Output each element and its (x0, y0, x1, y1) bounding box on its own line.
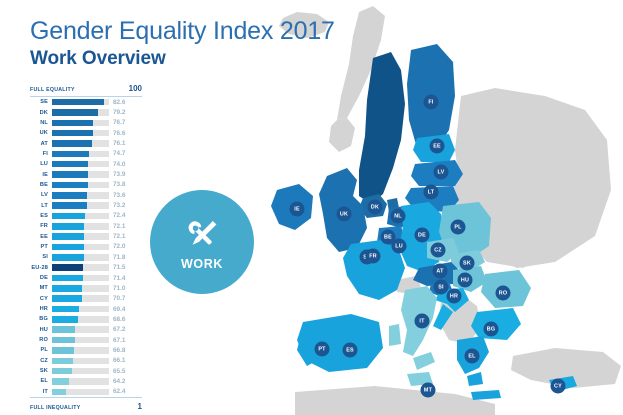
bar-value: 64.2 (109, 378, 136, 385)
bar-country-code: FI (30, 151, 52, 157)
bar-country-code: MT (30, 285, 52, 291)
bar-fill (52, 223, 84, 230)
bar-row: HU67.2 (30, 325, 142, 335)
bar-track (52, 130, 109, 137)
bar-fill (52, 171, 88, 178)
wrench-pencil-icon (181, 214, 223, 256)
bar-country-code: IE (30, 172, 52, 178)
bar-fill (52, 244, 84, 251)
bar-value: 71.5 (109, 264, 136, 271)
bar-country-code: DE (30, 275, 52, 281)
bar-row: PT72.0 (30, 242, 142, 252)
bar-fill (52, 202, 87, 209)
map-country-code-el: EL (465, 349, 480, 364)
bar-value: 71.8 (109, 254, 136, 261)
bar-row: DK79.2 (30, 107, 142, 117)
bar-fill (52, 306, 79, 313)
bar-row: LV73.6 (30, 190, 142, 200)
map-country-code-lv: LV (434, 165, 449, 180)
map-country-code-sk: SK (460, 256, 475, 271)
bar-value: 68.6 (109, 316, 136, 323)
bar-country-code: AT (30, 141, 52, 147)
bar-fill (52, 99, 104, 106)
map-country-code-pl: PL (451, 220, 466, 235)
bar-row: ES72.4 (30, 211, 142, 221)
bar-country-code: BG (30, 316, 52, 322)
map-country-code-nl: NL (391, 209, 406, 224)
page-title: Gender Equality Index 2017 (30, 18, 335, 45)
bar-country-code: FR (30, 223, 52, 229)
bar-country-code: LV (30, 192, 52, 198)
bar-track (52, 213, 109, 220)
bar-fill (52, 347, 74, 354)
map-country-code-ee: EE (430, 139, 445, 154)
bar-fill (52, 389, 66, 396)
bar-value: 67.1 (109, 337, 136, 344)
map-country-code-lu: LU (392, 239, 407, 254)
bar-track (52, 109, 109, 116)
bar-value: 73.6 (109, 192, 136, 199)
bar-fill (52, 182, 88, 189)
bar-value: 66.8 (109, 347, 136, 354)
bar-country-code: SE (30, 99, 52, 105)
bar-fill (52, 161, 88, 168)
bar-row: FR72.1 (30, 221, 142, 231)
map-country-code-hr: HR (447, 289, 462, 304)
bar-fill (52, 316, 78, 323)
bar-row: NL76.7 (30, 118, 142, 128)
bar-value: 73.2 (109, 202, 136, 209)
bar-row: CZ66.1 (30, 356, 142, 366)
bar-row: PL66.8 (30, 345, 142, 355)
bar-track (52, 295, 109, 302)
map-country-code-ie: IE (290, 202, 305, 217)
map-country-code-cy: CY (551, 379, 566, 394)
bar-row: AT76.1 (30, 138, 142, 148)
bar-track (52, 254, 109, 261)
bar-country-code: HR (30, 306, 52, 312)
map-country-code-uk: UK (337, 207, 352, 222)
bar-row: SK65.5 (30, 366, 142, 376)
full-equality-caption: FULL EQUALITY (30, 87, 129, 93)
bar-fill (52, 275, 83, 282)
bar-country-code: SK (30, 368, 52, 374)
bar-track (52, 99, 109, 106)
bar-fill (52, 233, 84, 240)
bar-track (52, 306, 109, 313)
bar-track (52, 140, 109, 147)
bar-fill (52, 192, 87, 199)
bar-track (52, 192, 109, 199)
bar-value: 66.1 (109, 357, 136, 364)
bar-row: IE73.9 (30, 169, 142, 179)
bar-country-code: SI (30, 254, 52, 260)
bar-rows-container: SE82.6DK79.2NL76.7UK76.6AT76.1FI74.7LU74… (30, 97, 142, 397)
infographic-canvas: SEFIEELVLTDKIEUKNLBELUDEPLCZSKATHUROSIHR… (0, 0, 623, 415)
bar-track (52, 233, 109, 240)
bar-row: BE73.8 (30, 180, 142, 190)
scale-bottom: FULL INEQUALITY 1 (30, 398, 142, 411)
bar-row: HR69.4 (30, 304, 142, 314)
bar-row: IT62.4 (30, 387, 142, 397)
bar-country-code: UK (30, 130, 52, 136)
bar-track (52, 347, 109, 354)
bar-fill (52, 140, 92, 147)
bar-country-code: ES (30, 213, 52, 219)
bar-value: 72.4 (109, 212, 136, 219)
bar-country-code: IT (30, 389, 52, 395)
bar-fill (52, 264, 83, 271)
map-country-code-at: AT (433, 264, 448, 279)
bar-value: 71.0 (109, 285, 136, 292)
bar-country-code: LU (30, 161, 52, 167)
bar-value: 72.1 (109, 233, 136, 240)
bar-track (52, 337, 109, 344)
bar-row: LU74.0 (30, 159, 142, 169)
bar-row: CY70.7 (30, 294, 142, 304)
bar-value: 82.6 (109, 99, 136, 106)
bar-country-code: BE (30, 182, 52, 188)
bar-value: 76.6 (109, 130, 136, 137)
bar-fill (52, 337, 75, 344)
bar-country-code: CY (30, 296, 52, 302)
bar-row: BG68.6 (30, 314, 142, 324)
bar-row: EU-2871.5 (30, 263, 142, 273)
bar-fill (52, 326, 75, 333)
map-country-code-bg: BG (484, 322, 499, 337)
bar-value: 65.5 (109, 368, 136, 375)
map-country-code-mt: MT (421, 383, 436, 398)
map-country-code-dk: DK (368, 200, 383, 215)
bar-track (52, 358, 109, 365)
map-country-code-it: IT (415, 314, 430, 329)
bar-row: UK76.6 (30, 128, 142, 138)
scale-top: FULL EQUALITY 100 (30, 84, 142, 96)
map-country-code-ro: RO (496, 286, 511, 301)
title-block: Gender Equality Index 2017 Work Overview (30, 18, 335, 70)
bar-value: 72.1 (109, 223, 136, 230)
map-country-code-pt: PT (315, 342, 330, 357)
bar-fill (52, 109, 98, 116)
bar-value: 74.0 (109, 161, 136, 168)
bar-track (52, 161, 109, 168)
bar-fill (52, 368, 72, 375)
full-inequality-caption: FULL INEQUALITY (30, 405, 138, 411)
bar-row: EE72.1 (30, 231, 142, 241)
map-country-code-hu: HU (458, 273, 473, 288)
bar-fill (52, 130, 93, 137)
bar-row: FI74.7 (30, 149, 142, 159)
bar-track (52, 389, 109, 396)
bar-fill (52, 285, 82, 292)
bar-fill (52, 151, 89, 158)
bar-value: 79.2 (109, 109, 136, 116)
bar-country-code: EE (30, 234, 52, 240)
bar-fill (52, 295, 82, 302)
bar-track (52, 368, 109, 375)
bar-country-code: LT (30, 203, 52, 209)
bar-value: 76.1 (109, 140, 136, 147)
bar-value: 62.4 (109, 388, 136, 395)
work-domain-badge: WORK (150, 190, 254, 294)
bar-country-code: PT (30, 244, 52, 250)
bar-value: 76.7 (109, 119, 136, 126)
bar-fill (52, 358, 73, 365)
full-equality-value: 100 (129, 84, 142, 93)
bar-country-code: HU (30, 327, 52, 333)
bar-country-code: EL (30, 378, 52, 384)
bar-value: 73.9 (109, 171, 136, 178)
bar-fill (52, 213, 85, 220)
bar-value: 69.4 (109, 306, 136, 313)
bar-row: RO67.1 (30, 335, 142, 345)
bar-track (52, 285, 109, 292)
bar-track (52, 244, 109, 251)
bar-country-code: RO (30, 337, 52, 343)
bar-track (52, 378, 109, 385)
bar-value: 74.7 (109, 150, 136, 157)
bar-row: SE82.6 (30, 97, 142, 107)
bar-fill (52, 120, 93, 127)
bar-country-code: EU-28 (30, 265, 52, 271)
bar-fill (52, 378, 69, 385)
bar-row: SI71.8 (30, 252, 142, 262)
map-country-code-lt: LT (424, 185, 439, 200)
map-country-code-es: ES (343, 343, 358, 358)
bar-track (52, 223, 109, 230)
map-country-code-cz: CZ (431, 243, 446, 258)
bar-row: EL64.2 (30, 376, 142, 386)
map-country-code-de: DE (415, 228, 430, 243)
bar-value: 73.8 (109, 181, 136, 188)
bar-country-code: CZ (30, 358, 52, 364)
bar-country-code: NL (30, 120, 52, 126)
bar-country-code: PL (30, 347, 52, 353)
bar-track (52, 120, 109, 127)
bar-track (52, 202, 109, 209)
bar-track (52, 326, 109, 333)
bar-value: 71.4 (109, 275, 136, 282)
bar-value: 72.0 (109, 243, 136, 250)
bar-row: LT73.2 (30, 200, 142, 210)
bar-country-code: DK (30, 110, 52, 116)
bar-track (52, 151, 109, 158)
bar-fill (52, 254, 84, 261)
bar-row: DE71.4 (30, 273, 142, 283)
map-country-code-fi: FI (424, 95, 439, 110)
bar-track (52, 171, 109, 178)
country-ranking-bar-chart: FULL EQUALITY 100 SE82.6DK79.2NL76.7UK76… (30, 84, 142, 411)
bar-value: 70.7 (109, 295, 136, 302)
full-inequality-value: 1 (138, 402, 142, 411)
map-country-code-fr: FR (366, 249, 381, 264)
bar-track (52, 316, 109, 323)
bar-track (52, 264, 109, 271)
bar-track (52, 182, 109, 189)
bar-row: MT71.0 (30, 283, 142, 293)
page-subtitle: Work Overview (30, 48, 335, 70)
work-badge-label: WORK (181, 257, 223, 271)
bar-value: 67.2 (109, 326, 136, 333)
bar-track (52, 275, 109, 282)
